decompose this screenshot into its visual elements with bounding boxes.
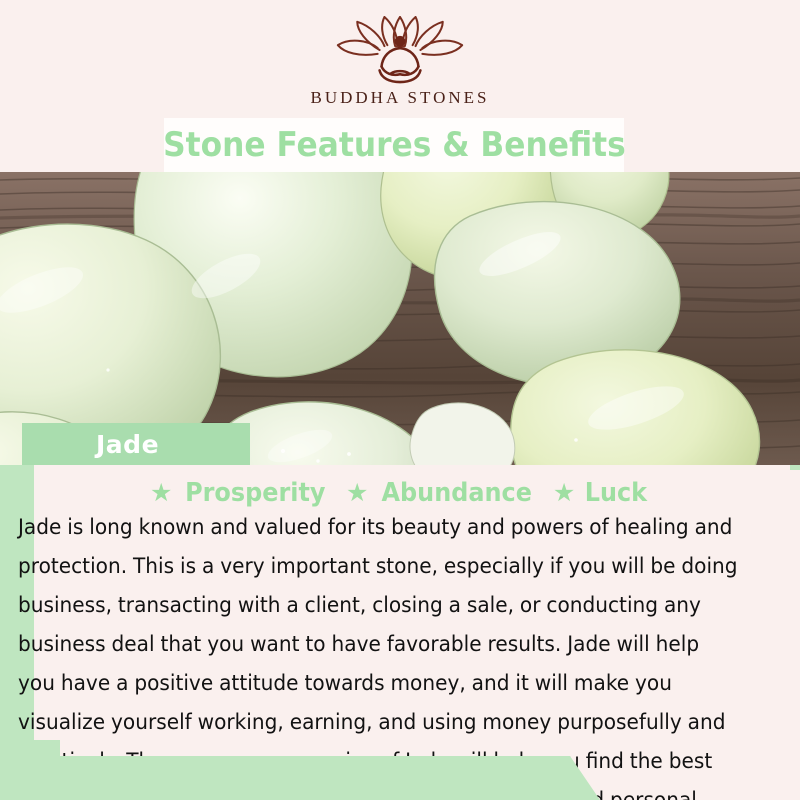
- star-icon: ★: [150, 481, 172, 506]
- brand-logo: BUDDHA STONES: [0, 16, 800, 108]
- decor-bottom-band: [0, 756, 600, 800]
- benefit-label: Prosperity: [185, 478, 325, 508]
- benefit-item: ★ Abundance: [346, 478, 539, 508]
- title-banner: Stone Features & Benefits: [164, 118, 624, 172]
- benefit-item: ★ Luck: [553, 478, 650, 508]
- stone-info-card: BUDDHA STONES Stone Features & Benefits …: [0, 0, 800, 800]
- stone-name-band: Jade: [22, 423, 250, 465]
- benefits-row: ★ Prosperity ★ Abundance ★ Luck: [0, 478, 800, 508]
- benefit-item: ★ Prosperity: [150, 478, 332, 508]
- benefit-label: Luck: [585, 478, 647, 508]
- star-icon: ★: [553, 481, 575, 506]
- stone-photo: [0, 172, 800, 465]
- benefit-label: Abundance: [382, 478, 532, 508]
- stone-name: Jade: [96, 430, 159, 459]
- star-icon: ★: [346, 481, 368, 506]
- lotus-meditation-icon: [325, 16, 475, 84]
- brand-name: BUDDHA STONES: [0, 88, 800, 108]
- page-title: Stone Features & Benefits: [163, 125, 626, 165]
